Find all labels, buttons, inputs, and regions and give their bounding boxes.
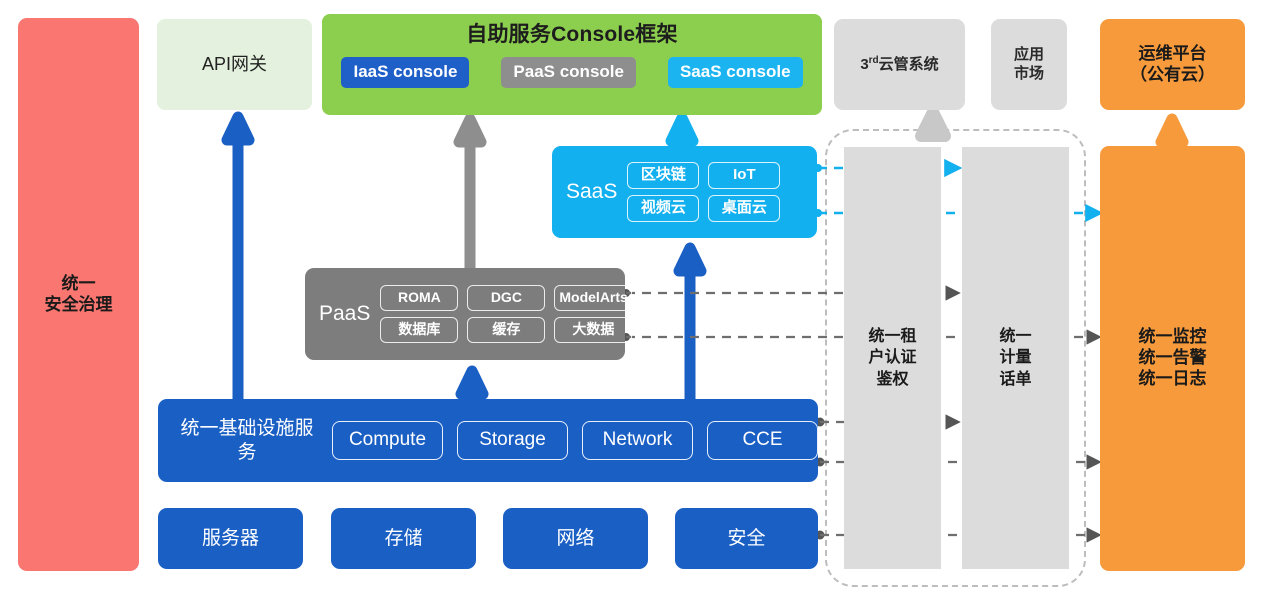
infra-chip-network[interactable]: Network bbox=[582, 421, 693, 460]
paas-chip-roma[interactable]: ROMA bbox=[380, 285, 458, 311]
paas-chip-bigdata[interactable]: 大数据 bbox=[554, 317, 632, 343]
auth-line-1: 统一租 bbox=[868, 326, 916, 348]
arrow-infra-to-api-gateway bbox=[227, 117, 249, 399]
security-governance-column[interactable]: 统一 安全治理 bbox=[18, 18, 139, 571]
ops-main-line-2: 统一告警 bbox=[1139, 348, 1207, 369]
console-framework-box[interactable]: 自助服务Console框架 IaaS console PaaS console … bbox=[322, 14, 822, 115]
infra-chip-cce[interactable]: CCE bbox=[707, 421, 818, 460]
saas-chip-video-cloud[interactable]: 视频云 bbox=[627, 195, 699, 222]
ops-main-line-1: 统一监控 bbox=[1139, 327, 1207, 348]
hardware-label-storage: 存储 bbox=[384, 527, 422, 550]
saas-console-button[interactable]: SaaS console bbox=[668, 57, 803, 89]
ops-main-line-3: 统一日志 bbox=[1139, 369, 1207, 390]
app-market-box[interactable]: 应用 市场 bbox=[991, 19, 1067, 110]
infrastructure-chip-group: Compute Storage Network CCE bbox=[332, 421, 818, 460]
saas-layer-label: SaaS bbox=[566, 179, 617, 205]
unified-tenant-auth-column[interactable]: 统一租 户认证 鉴权 bbox=[844, 147, 941, 569]
architecture-diagram: 统一 安全治理 API网关 自助服务Console框架 IaaS console… bbox=[0, 0, 1265, 605]
iaas-console-button[interactable]: IaaS console bbox=[341, 57, 469, 89]
hardware-box-network[interactable]: 网络 bbox=[503, 508, 648, 569]
saas-layer-box[interactable]: SaaS 区块链 IoT 视频云 桌面云 bbox=[552, 146, 817, 238]
saas-chip-blockchain[interactable]: 区块链 bbox=[627, 162, 699, 189]
saas-chip-grid: 区块链 IoT 视频云 桌面云 bbox=[627, 162, 780, 223]
app-market-line-2: 市场 bbox=[1014, 65, 1044, 83]
arrow-infra-to-paas bbox=[461, 371, 483, 399]
hardware-label-server: 服务器 bbox=[202, 527, 259, 550]
infrastructure-label: 统一基础设施服务 bbox=[172, 417, 322, 463]
arrow-paas-to-console bbox=[459, 119, 481, 268]
hardware-box-security[interactable]: 安全 bbox=[675, 508, 818, 569]
metering-line-2: 计量 bbox=[999, 347, 1031, 369]
third-party-cloud-mgmt-box[interactable]: 3rd云管系统 bbox=[834, 19, 965, 110]
app-market-line-1: 应用 bbox=[1014, 46, 1044, 64]
arrow-infra-to-saas bbox=[679, 248, 701, 399]
paas-chip-grid: ROMA DGC ModelArts 数据库 缓存 大数据 bbox=[380, 285, 632, 343]
api-gateway-box[interactable]: API网关 bbox=[157, 19, 312, 110]
paas-chip-database[interactable]: 数据库 bbox=[380, 317, 458, 343]
paas-chip-dgc[interactable]: DGC bbox=[467, 285, 545, 311]
console-button-group: IaaS console PaaS console SaaS console bbox=[341, 57, 802, 89]
saas-chip-iot[interactable]: IoT bbox=[708, 162, 780, 189]
paas-layer-box[interactable]: PaaS ROMA DGC ModelArts 数据库 缓存 大数据 bbox=[305, 268, 625, 360]
api-gateway-label: API网关 bbox=[202, 54, 267, 76]
console-framework-title: 自助服务Console框架 bbox=[466, 22, 677, 48]
arrow-saas-to-saas-console bbox=[671, 118, 693, 146]
ops-top-line-1: 运维平台 bbox=[1130, 44, 1215, 65]
paas-console-button[interactable]: PaaS console bbox=[501, 57, 636, 89]
paas-layer-label: PaaS bbox=[319, 301, 370, 327]
saas-chip-desktop-cloud[interactable]: 桌面云 bbox=[708, 195, 780, 222]
paas-chip-modelarts[interactable]: ModelArts bbox=[554, 285, 632, 311]
hardware-box-server[interactable]: 服务器 bbox=[158, 508, 303, 569]
auth-line-2: 户认证 bbox=[868, 347, 916, 369]
security-line-1: 统一 bbox=[45, 274, 113, 295]
hardware-label-network: 网络 bbox=[556, 527, 594, 550]
paas-chip-cache[interactable]: 缓存 bbox=[467, 317, 545, 343]
ops-platform-monitoring-column[interactable]: 统一监控 统一告警 统一日志 bbox=[1100, 146, 1245, 571]
third-cloud-label: 3rd云管系统 bbox=[860, 55, 938, 74]
ops-top-line-2: （公有云） bbox=[1130, 65, 1215, 86]
infra-chip-storage[interactable]: Storage bbox=[457, 421, 568, 460]
metering-line-1: 统一 bbox=[999, 326, 1031, 348]
hardware-box-storage[interactable]: 存储 bbox=[331, 508, 476, 569]
metering-line-3: 话单 bbox=[999, 369, 1031, 391]
ops-platform-public-cloud-box[interactable]: 运维平台 （公有云） bbox=[1100, 19, 1245, 110]
hardware-label-security: 安全 bbox=[727, 527, 765, 550]
unified-metering-billing-column[interactable]: 统一 计量 话单 bbox=[962, 147, 1069, 569]
auth-line-3: 鉴权 bbox=[868, 369, 916, 391]
unified-infrastructure-box[interactable]: 统一基础设施服务 Compute Storage Network CCE bbox=[158, 399, 818, 482]
security-line-2: 安全治理 bbox=[45, 295, 113, 316]
infra-chip-compute[interactable]: Compute bbox=[332, 421, 443, 460]
arrow-to-ops-platform bbox=[1161, 119, 1183, 146]
